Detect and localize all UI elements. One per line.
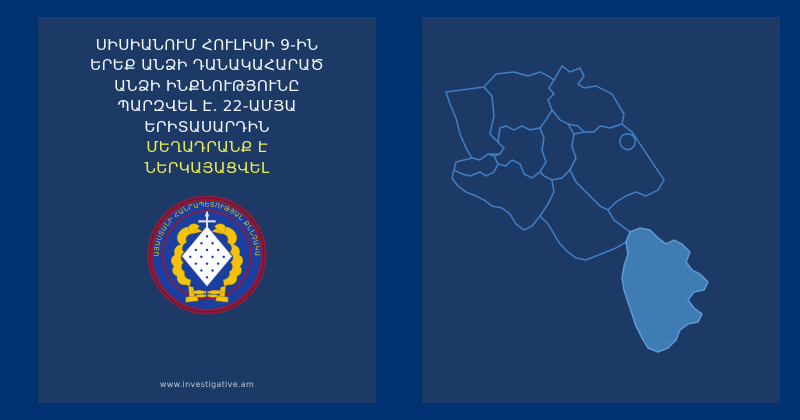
emblem-container: ՀԱՅԱՍՏԱՆԻ ՀԱՆՐԱՊԵՏՈՒԹՅԱՆ ՔՆՆՉԱԿԱՆ ԿՈՄԻՏԵ: [143, 191, 271, 319]
headline-line-6-accent: ՄԵՂԱԴՐԱՆՔ Է: [52, 137, 362, 157]
announcement-card: ՍԻՍԻԱՆՈՒՄ ՀՈՒԼԻՍԻ 9-ԻՆ ԵՐԵՔ ԱՆՁԻ ԴԱՆԱԿԱՀ…: [38, 17, 376, 403]
headline-line-7-accent: ՆԵՐԿԱՅԱՑՎԵԼ: [52, 158, 362, 178]
headline-line-1: ՍԻՍԻԱՆՈՒՄ ՀՈՒԼԻՍԻ 9-ԻՆ: [52, 35, 362, 55]
headline-text: ՍԻՍԻԱՆՈՒՄ ՀՈՒԼԻՍԻ 9-ԻՆ ԵՐԵՔ ԱՆՁԻ ԴԱՆԱԿԱՀ…: [52, 35, 362, 178]
region-syunik-highlighted: [622, 228, 708, 352]
website-url[interactable]: www.investigative.am: [38, 380, 376, 389]
headline-line-3: ԱՆՁԻ ԻՆՔՆՈՒԹՅՈՒՆԸ: [52, 76, 362, 96]
armenian-investigative-committee-seal-icon: ՀԱՅԱՍՏԱՆԻ ՀԱՆՐԱՊԵՏՈՒԹՅԱՆ ՔՆՆՉԱԿԱՆ ԿՈՄԻՏԵ: [145, 193, 269, 317]
armenia-provinces-map-icon: [436, 30, 766, 390]
headline-line-4: ՊԱՐԶՎԵԼ Է. 22-ԱՄՅԱ: [52, 96, 362, 116]
lake-sevan: [620, 134, 635, 150]
map-card: [422, 17, 780, 403]
headline-line-5: ԵՐԻՏԱՍԱՐԴԻՆ: [52, 117, 362, 137]
poster-canvas: ՍԻՍԻԱՆՈՒՄ ՀՈՒԼԻՍԻ 9-ԻՆ ԵՐԵՔ ԱՆՁԻ ԴԱՆԱԿԱՀ…: [0, 0, 800, 420]
headline-line-2: ԵՐԵՔ ԱՆՁԻ ԴԱՆԱԿԱՀԱՐԱԾ: [52, 55, 362, 75]
